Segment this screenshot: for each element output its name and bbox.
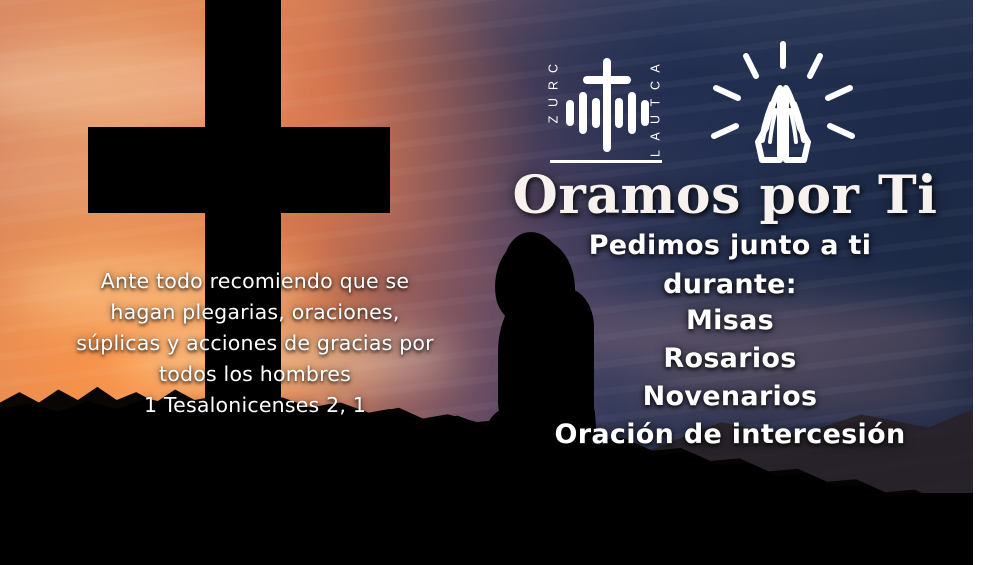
verse-line: hagan plegarias, oraciones, [40, 297, 470, 328]
logo-letter-r: R [546, 78, 563, 94]
logo-letter-c2: C [648, 78, 665, 94]
figure-foot [496, 500, 586, 534]
logo-letter-u: U [546, 95, 563, 111]
cross-horizontal-beam [88, 127, 390, 213]
service-item-novenarios: Novenarios [500, 378, 960, 416]
logo-underline [550, 160, 662, 163]
cruz-actual-logo: C R U Z A C T U A L [540, 52, 670, 174]
service-item-oracion-de-intercesion: Oración de intercesión [500, 416, 960, 454]
cross-silhouette [0, 0, 420, 520]
intro-text: Pedimos junto a ti durante: [510, 226, 950, 304]
verse-citation: 1 Tesalonicenses 2, 1 [40, 390, 470, 421]
logo-letter-t: T [648, 95, 665, 111]
service-item-misas: Misas [500, 302, 960, 340]
logo-letter-a: A [648, 61, 665, 77]
prayer-poster: C R U Z A C T U A L [0, 0, 1005, 565]
cross-soundwave-icon [564, 54, 650, 158]
verse-line: súplicas y acciones de gracias por [40, 328, 470, 359]
verse-line: todos los hombres [40, 359, 470, 390]
logo-text-actual: A C T U A L [648, 60, 664, 162]
scripture-verse: Ante todo recomiendo que se hagan plegar… [40, 266, 470, 421]
logo-letter-z: Z [546, 112, 563, 128]
logo-text-cruz: C R U Z [546, 60, 562, 128]
right-white-margin [973, 0, 1005, 565]
verse-line: Ante todo recomiendo que se [40, 266, 470, 297]
logo-letter-u2: U [648, 112, 665, 128]
intro-line: Pedimos junto a ti [510, 226, 950, 265]
service-item-rosarios: Rosarios [500, 340, 960, 378]
page-title: Oramos por Ti [500, 168, 950, 224]
praying-hands-icon [690, 40, 876, 180]
logo-letter-c: C [546, 61, 563, 77]
logo-letter-a2: A [648, 129, 665, 145]
services-list: Misas Rosarios Novenarios Oración de int… [500, 302, 960, 454]
intro-line: durante: [510, 265, 950, 304]
